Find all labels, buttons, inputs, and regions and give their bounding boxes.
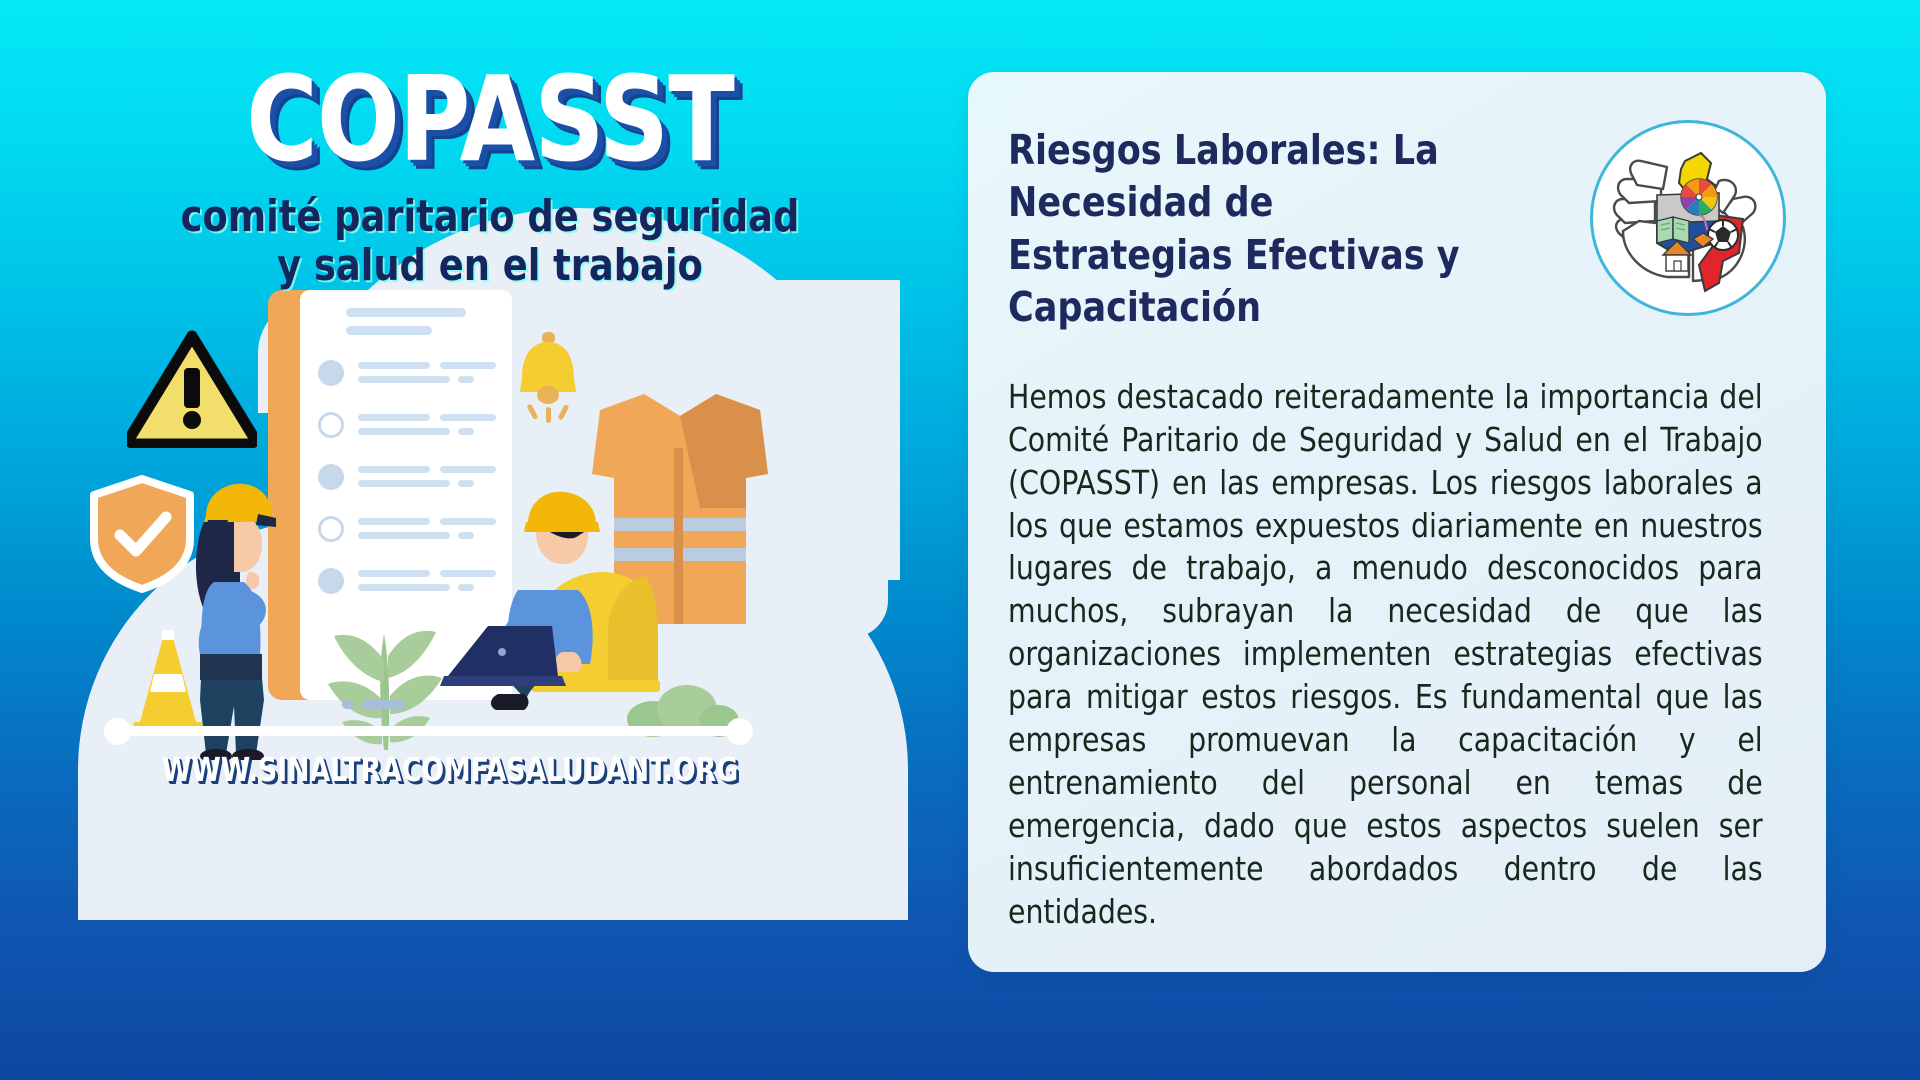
floor-line: [112, 726, 752, 736]
article-body-text: Hemos destacado reiteradamente la import…: [1008, 376, 1763, 934]
article-panel-inner: Riesgos Laborales: La Necesidad de Estra…: [1008, 124, 1786, 938]
doc-bullet-4: [318, 516, 344, 542]
doc-line-2b: [440, 414, 496, 421]
floor-endpoint-left: [104, 718, 131, 745]
traffic-cone-icon: [120, 630, 216, 735]
worker-man-laptop-figure: [440, 480, 660, 740]
floor-endpoint-right: [726, 718, 753, 745]
doc-header-line-1: [346, 308, 466, 317]
doc-line-5c: [358, 584, 450, 591]
doc-bullet-2: [318, 412, 344, 438]
brand-title-block: COPASST comité paritario de seguridad y …: [0, 60, 980, 291]
doc-line-2d: [458, 428, 474, 435]
doc-line-5a: [358, 570, 430, 577]
doc-bullet-5: [318, 568, 344, 594]
doc-line-3b: [440, 466, 496, 473]
doc-bullet-3: [318, 464, 344, 490]
doc-line-1b: [440, 362, 496, 369]
left-illustration-area: COPASST comité paritario de seguridad y …: [0, 0, 980, 1080]
page-title: COPASST: [39, 60, 941, 178]
hands-holding-colombia-map-logo: [1590, 120, 1786, 316]
warning-triangle-icon: [127, 330, 257, 448]
doc-line-3c: [358, 480, 450, 487]
floor-dash-long: [362, 700, 406, 709]
doc-header-line-2: [346, 326, 432, 335]
brand-subtitle-line-2: y salud en el trabajo: [34, 241, 945, 290]
doc-bullet-1: [318, 360, 344, 386]
doc-line-2a: [358, 414, 430, 421]
alarm-bell-icon: [512, 330, 584, 430]
doc-line-3a: [358, 466, 430, 473]
doc-line-1d: [458, 376, 474, 383]
doc-line-2c: [358, 428, 450, 435]
floor-dash-small: [342, 700, 354, 709]
website-url: WWW.SINALTRACOMFASALUDANT.ORG: [45, 750, 855, 789]
brand-subtitle: comité paritario de seguridad y salud en…: [34, 192, 945, 291]
article-panel: Riesgos Laborales: La Necesidad de Estra…: [968, 72, 1826, 972]
poster-canvas: COPASST comité paritario de seguridad y …: [0, 0, 1920, 1080]
article-header-row: Riesgos Laborales: La Necesidad de Estra…: [1008, 124, 1786, 334]
doc-line-4c: [358, 532, 450, 539]
article-heading: Riesgos Laborales: La Necesidad de Estra…: [1008, 124, 1502, 334]
doc-line-1c: [358, 376, 450, 383]
doc-line-1a: [358, 362, 430, 369]
brand-subtitle-line-1: comité paritario de seguridad: [34, 192, 945, 241]
doc-line-4a: [358, 518, 430, 525]
